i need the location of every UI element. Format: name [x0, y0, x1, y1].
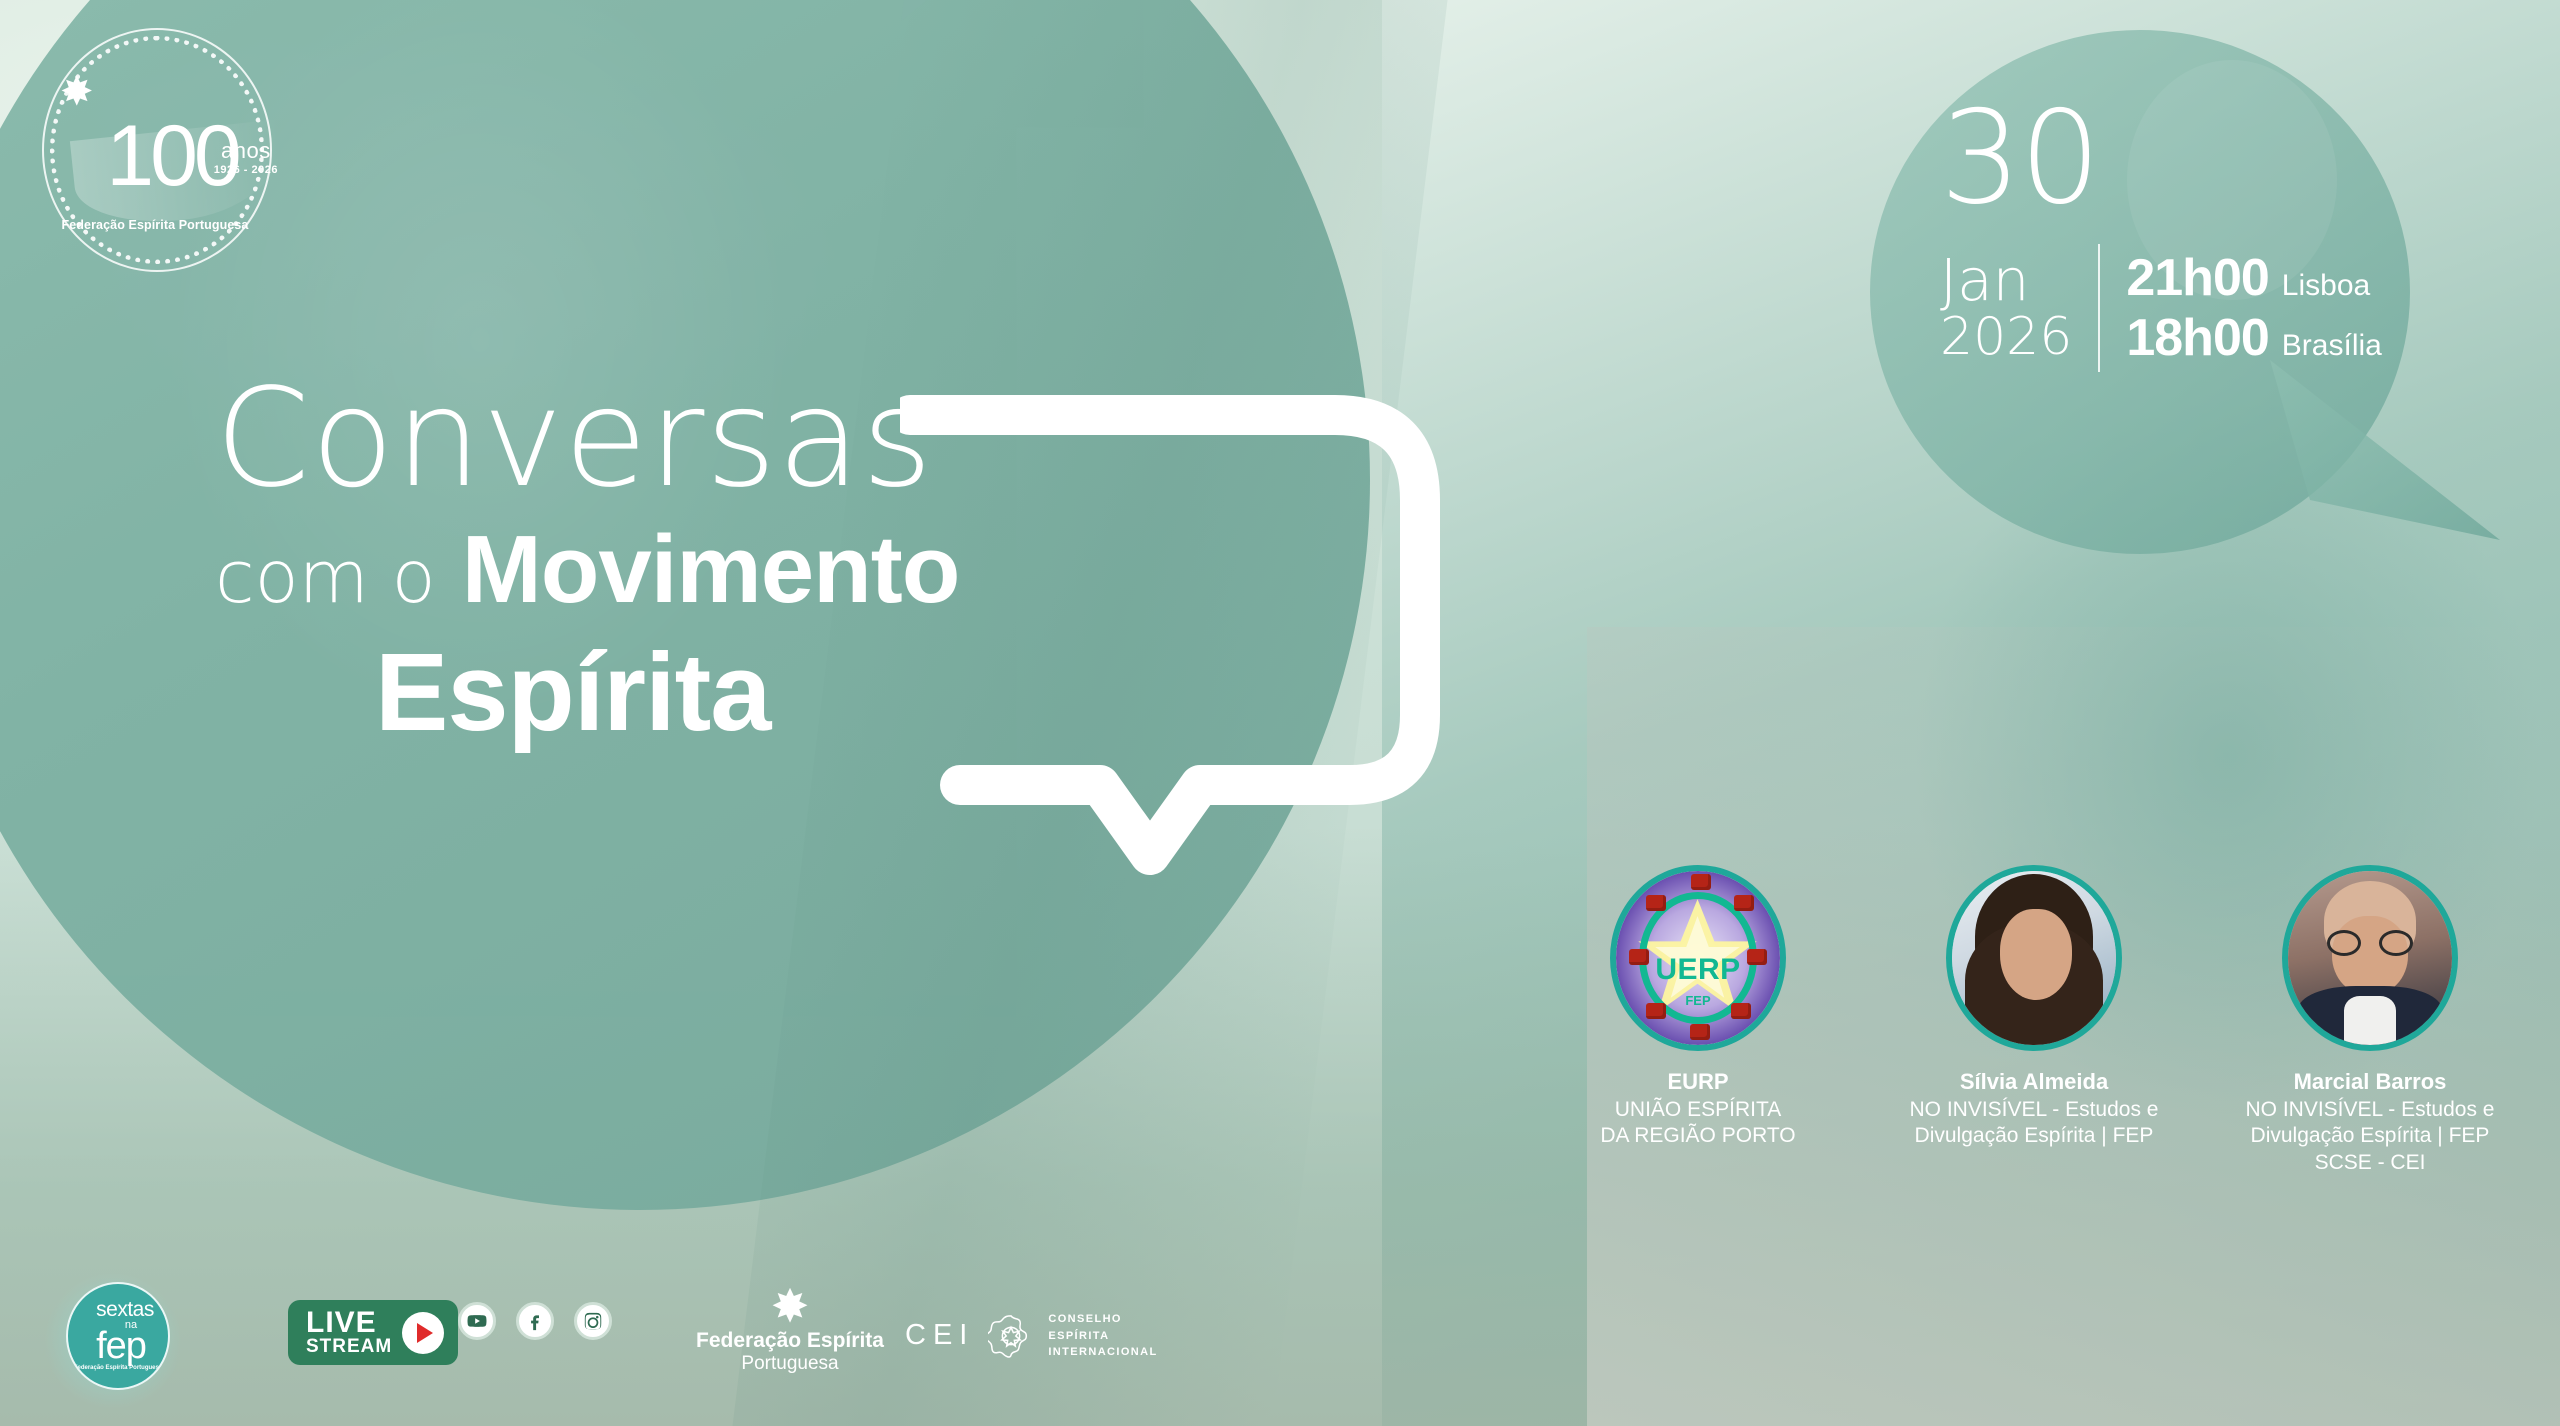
cei-line2: ESPÍRITA	[1048, 1328, 1157, 1345]
time-row: 18h00 Brasília	[2126, 308, 2382, 368]
speaker-avatar	[1946, 865, 2122, 1051]
speaker-card-silvia: Sílvia Almeida NO INVISÍVEL - Estudos e …	[1866, 865, 2202, 1176]
social-links	[458, 1302, 612, 1340]
youtube-icon[interactable]	[458, 1302, 496, 1340]
centenary-seal: ✸ 100 anos 1926 - 2026 Federação Espírit…	[18, 10, 318, 290]
time-brasilia: 18h00	[2126, 308, 2268, 368]
play-icon[interactable]	[402, 1312, 444, 1354]
date-day: 30	[1940, 100, 2382, 218]
stream-label: STREAM	[306, 1338, 392, 1356]
date-divider	[2098, 244, 2100, 372]
live-stream-button[interactable]: LIVE STREAM	[288, 1300, 458, 1365]
time-row: 21h00 Lisboa	[2126, 248, 2382, 308]
date-bubble: 30 Jan 2026 21h00 Lisboa 18h00 Brasília	[1840, 30, 2540, 590]
timezone-brasilia: Brasília	[2282, 329, 2382, 363]
glasses-icon	[2327, 930, 2412, 956]
seal-anos: anos 1926 - 2026	[214, 138, 278, 176]
speaker-name: Sílvia Almeida	[1960, 1069, 2108, 1095]
instagram-icon[interactable]	[574, 1302, 612, 1340]
seal-org-name: Federação Espírita Portuguesa	[18, 218, 292, 232]
date-year: 2026	[1940, 310, 2072, 365]
cei-acronym: CEI	[905, 1319, 974, 1352]
fep-name-line2: Portuguesa	[680, 1353, 900, 1375]
cei-flower-icon	[988, 1313, 1034, 1359]
cei-line1: CONSELHO	[1048, 1311, 1157, 1328]
uerp-logo: UERP FEP	[1610, 865, 1786, 1051]
time-lisboa: 21h00	[2126, 248, 2268, 308]
sextas-na-fep-badge[interactable]: sextas na fep Federação Espírita Portugu…	[48, 1270, 178, 1400]
fep-star-icon: ✸	[60, 72, 94, 112]
speaker-org: UNIÃO ESPÍRITA DA REGIÃO PORTO	[1600, 1097, 1795, 1150]
speaker-name: Marcial Barros	[2294, 1069, 2447, 1095]
speaker-list: UERP FEP EURP UNIÃO ESPÍRITA DA REGIÃO P…	[1530, 865, 2540, 1176]
fep-name-line1: Federação Espírita	[680, 1329, 900, 1353]
timezone-lisboa: Lisboa	[2282, 269, 2370, 303]
time-list: 21h00 Lisboa 18h00 Brasília	[2126, 248, 2382, 368]
speaker-card-marcial: Marcial Barros NO INVISÍVEL - Estudos e …	[2202, 865, 2538, 1176]
title-line-com-o: com o	[215, 535, 436, 619]
fep-star-icon: ✸	[680, 1288, 900, 1325]
poster-title: Conversas com o Movimento Espírita	[215, 370, 1515, 756]
seal-anos-label: anos	[221, 138, 271, 163]
sextas-line4: Federação Espírita Portuguesa	[74, 1365, 162, 1371]
cei-line3: INTERNACIONAL	[1048, 1344, 1157, 1361]
title-line-espirita: Espírita	[375, 629, 1515, 756]
footer-bar: sextas na fep Federação Espírita Portugu…	[0, 1256, 1200, 1426]
sextas-line1: sextas	[96, 1301, 154, 1320]
speaker-avatar	[2282, 865, 2458, 1051]
fep-logo: ✸ Federação Espírita Portuguesa	[680, 1288, 900, 1375]
live-label: LIVE	[306, 1309, 392, 1338]
cei-full-name: CONSELHO ESPÍRITA INTERNACIONAL	[1048, 1311, 1157, 1361]
title-line-movimento: Movimento	[462, 515, 960, 625]
speaker-org: NO INVISÍVEL - Estudos e Divulgação Espí…	[2246, 1097, 2495, 1176]
event-poster: ✸ 100 anos 1926 - 2026 Federação Espírit…	[0, 0, 2560, 1426]
seal-years: 1926 - 2026	[214, 164, 278, 176]
sextas-line3: fep	[96, 1331, 146, 1362]
cei-logo: CEI CONSELHO ESPÍRITA INTERNACIONAL	[905, 1311, 1158, 1361]
uerp-acronym: UERP	[1616, 953, 1780, 987]
speaker-org: NO INVISÍVEL - Estudos e Divulgação Espí…	[1910, 1097, 2159, 1150]
title-line-conversas: Conversas	[215, 370, 1515, 509]
speaker-name: EURP	[1667, 1069, 1728, 1095]
facebook-icon[interactable]	[516, 1302, 554, 1340]
uerp-sub: FEP	[1616, 993, 1780, 1008]
date-month: Jan	[1940, 251, 2072, 310]
speaker-card-eurp: UERP FEP EURP UNIÃO ESPÍRITA DA REGIÃO P…	[1530, 865, 1866, 1176]
